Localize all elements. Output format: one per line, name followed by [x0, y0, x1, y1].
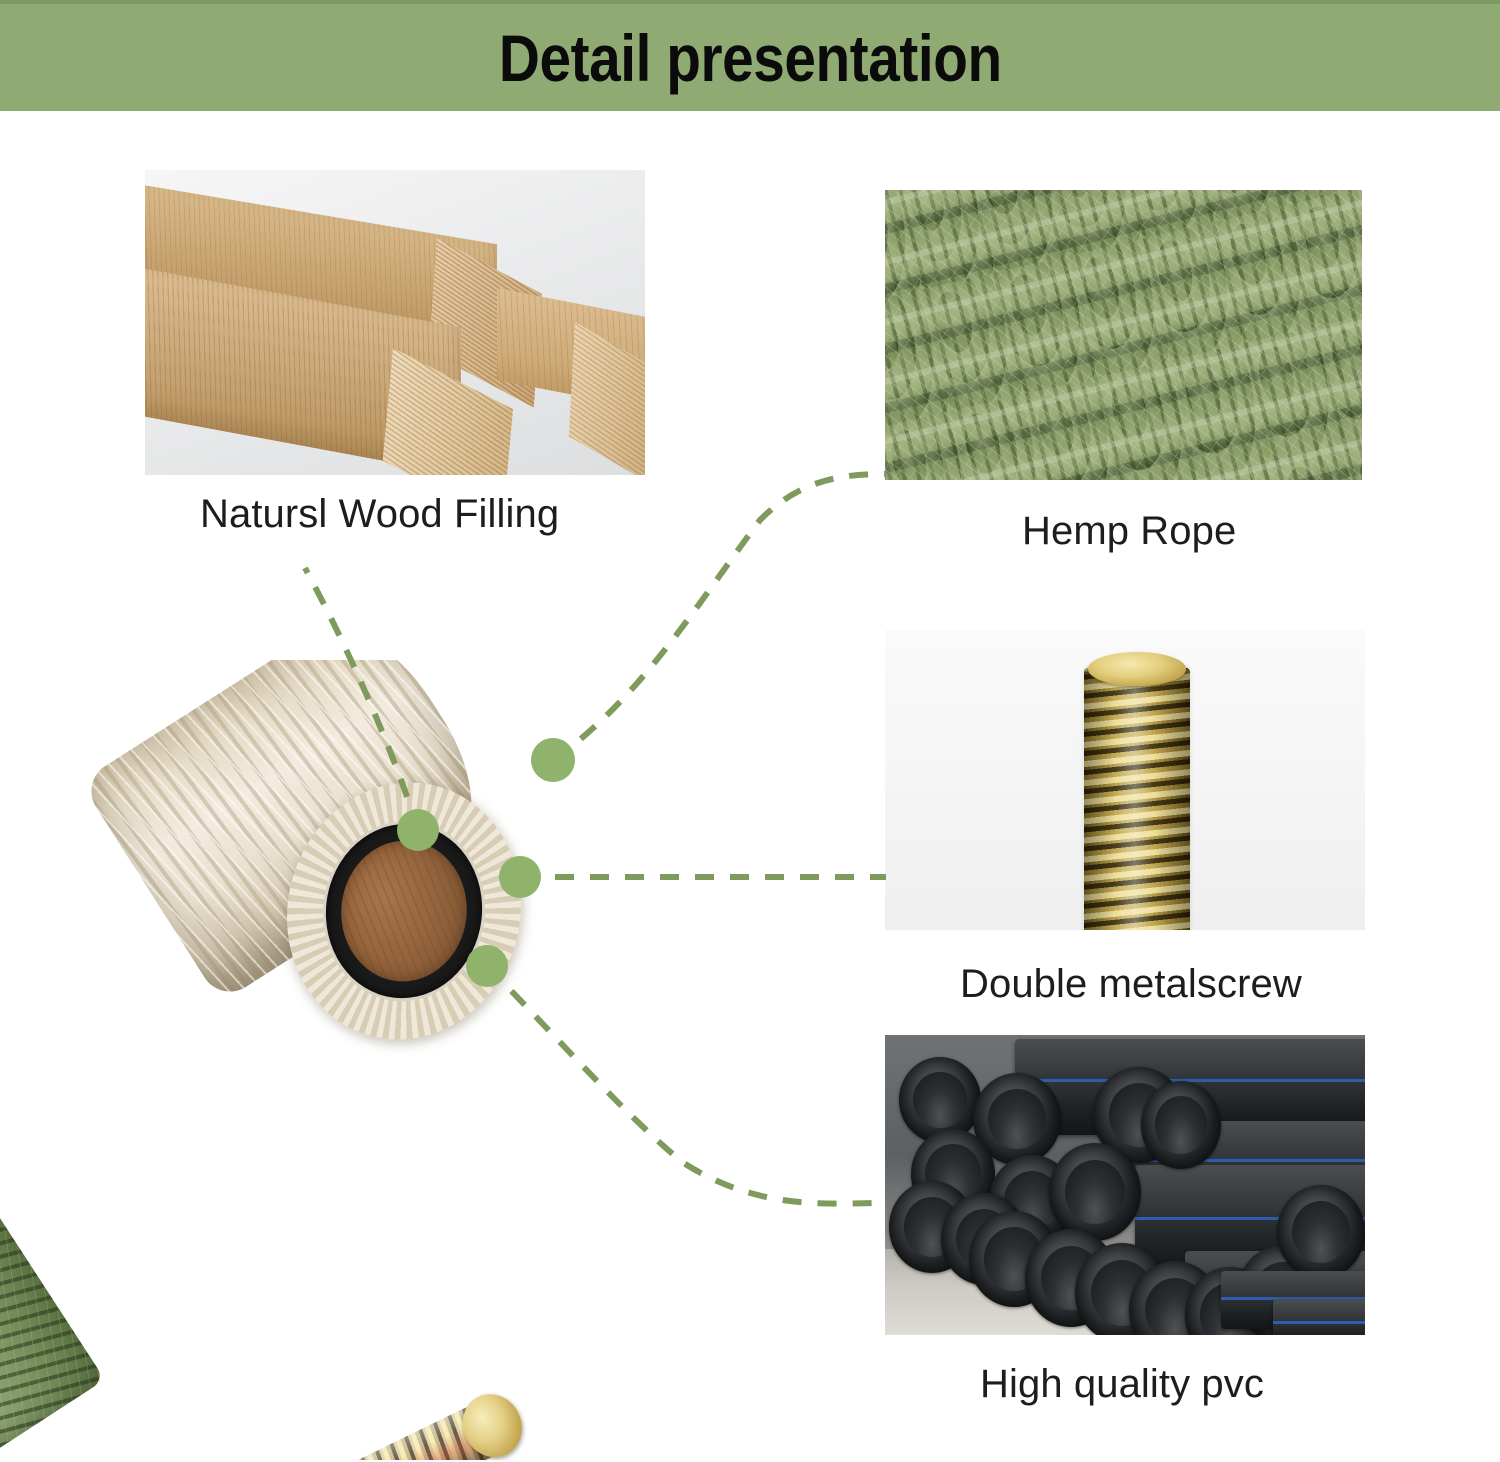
hemp-rope-fibers	[885, 190, 1362, 480]
threaded-rod	[1084, 668, 1190, 930]
pvc-pipe-body	[1273, 1299, 1365, 1335]
hemp-rope-photo	[885, 190, 1362, 480]
header-band: Detail presentation	[0, 0, 1500, 111]
metal-screw-photo	[885, 630, 1365, 930]
page-title: Detail presentation	[499, 25, 1002, 91]
detail-presentation-page: Detail presentation	[0, 0, 1500, 1462]
rope-post-photo	[0, 660, 690, 1460]
pvc-pipe-photo	[885, 1035, 1365, 1335]
pvc-pipe-end	[1277, 1185, 1365, 1279]
pvc-pipe-end	[1049, 1143, 1141, 1241]
protruding-brass-bolt	[330, 1385, 531, 1460]
wood-photo	[145, 170, 645, 475]
green-hemp-rope-shaft	[0, 910, 105, 1460]
pvc-pipe-end	[1141, 1081, 1221, 1169]
caption-wood: Natursl Wood Filling	[200, 492, 559, 537]
caption-pvc: High quality pvc	[980, 1362, 1264, 1407]
caption-hemp: Hemp Rope	[1022, 509, 1236, 554]
caption-screw: Double metalscrew	[960, 962, 1302, 1007]
threaded-rod-top-face	[1088, 652, 1186, 686]
